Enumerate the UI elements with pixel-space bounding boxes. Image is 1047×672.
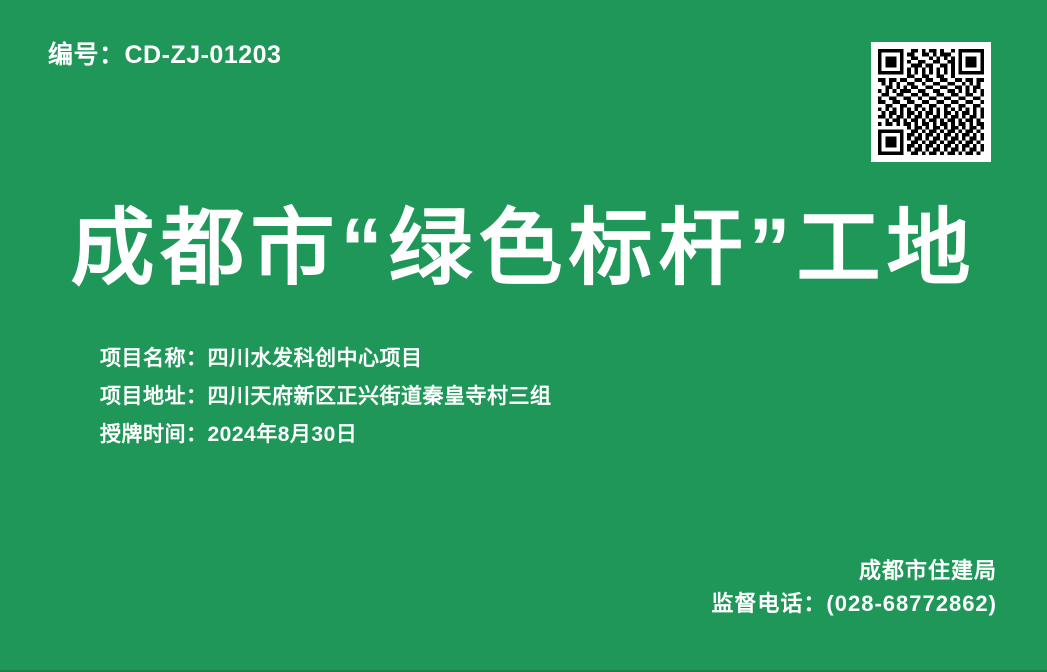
green-benchmark-site-plaque: 编号：CD-ZJ-01203 成都市“绿色标杆”工地 项目名称：四川水发科创中心…: [0, 0, 1047, 672]
supervision-hotline: 监督电话：(028-68772862): [711, 587, 997, 620]
project-details: 项目名称：四川水发科创中心项目 项目地址：四川天府新区正兴街道秦皇寺村三组 授牌…: [100, 340, 552, 454]
qr-code-canvas: [878, 49, 984, 155]
detail-project-address: 项目地址：四川天府新区正兴街道秦皇寺村三组: [100, 378, 552, 416]
qr-code[interactable]: [871, 42, 991, 162]
serial-number: 编号：CD-ZJ-01203: [48, 40, 281, 70]
detail-award-date: 授牌时间：2024年8月30日: [100, 416, 552, 454]
issuing-authority: 成都市住建局: [711, 554, 997, 587]
page-title: 成都市“绿色标杆”工地: [0, 203, 1047, 294]
footer: 成都市住建局 监督电话：(028-68772862): [711, 554, 997, 620]
detail-project-name: 项目名称：四川水发科创中心项目: [100, 340, 552, 378]
